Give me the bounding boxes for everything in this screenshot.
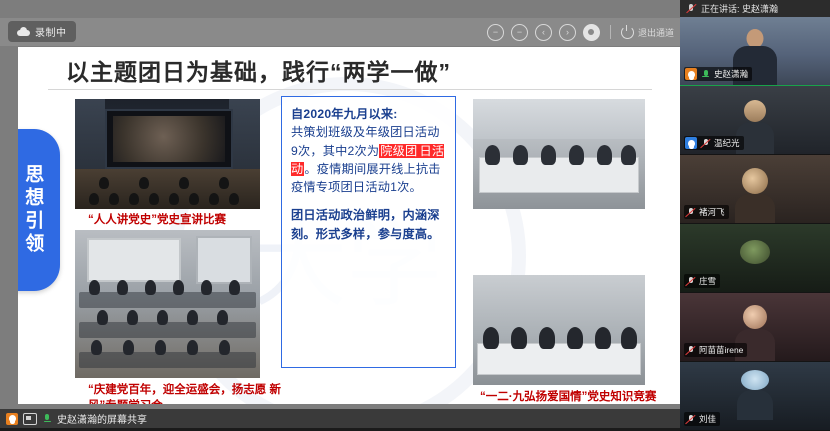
screen-share-label: 史赵潇瀚的屏幕共享 (57, 411, 147, 426)
mic-muted-icon (685, 414, 696, 425)
section-tab-label: 思想引领 (21, 164, 43, 256)
recording-indicator: 录制中 (8, 21, 76, 42)
mic-muted-icon (686, 4, 696, 14)
section-tab-ideological-guidance: 思想引领 (18, 129, 60, 291)
participant-name: 史赵潇瀚 (714, 68, 748, 80)
card-heading: 自2020年九月以来: (291, 105, 446, 123)
avatar-icon (685, 68, 697, 80)
participant-name-chip: 褚河飞 (684, 205, 729, 219)
photo-decor (473, 99, 645, 139)
exit-label: 退出通道 (638, 26, 674, 39)
photo-decor (479, 157, 639, 193)
active-speaker-label: 正在讲话: 史赵潇瀚 (701, 2, 778, 15)
exit-button[interactable]: 退出通道 (621, 26, 674, 39)
presentation-slide: 大学 以主题团日为基础，践行“两学一做” 思想引领 “人人讲党史”党史宣讲比赛 (18, 47, 682, 404)
participant-tile[interactable]: 史赵潇瀚 (680, 17, 830, 86)
recording-label: 录制中 (35, 24, 67, 39)
participant-name: 庄雪 (699, 275, 716, 287)
mic-muted-icon (700, 138, 711, 149)
zoom-out-alt-icon[interactable]: − (511, 24, 528, 41)
caption-photo-lecture-competition: “人人讲党史”党史宣讲比赛 (88, 213, 226, 229)
card-line-5: 1次。 (390, 180, 422, 194)
stop-icon[interactable] (583, 24, 600, 41)
host-avatar-icon (6, 413, 18, 425)
participant-name-chip: 阿苗苗irene (684, 343, 747, 357)
photo-knowledge-contest (473, 275, 645, 385)
participant-tile[interactable]: 温纪光 (680, 86, 830, 155)
participant-name-chip: 刘佳 (684, 412, 720, 426)
card-summary-3: 高。 (415, 227, 440, 241)
screen-share-status-bar: 史赵潇瀚的屏幕共享 (0, 409, 680, 428)
summary-text-card: 自2020年九月以来: 共策划班级及年级团日活动9次，其中2次为院级团日活动。疫… (281, 96, 456, 368)
participant-tile[interactable]: 庄雪 (680, 224, 830, 293)
avatar-icon (685, 137, 697, 149)
card-summary-1: 团日活动政治鲜明，内涵 (291, 208, 427, 222)
microphone-icon (42, 413, 52, 424)
photo-decor (477, 343, 641, 375)
screen-share-icon (23, 413, 37, 425)
participant-name-chip: 温纪光 (684, 136, 744, 150)
mic-on-icon (700, 69, 711, 80)
zoom-meeting-window: 录制中 − − ‹ › 退出通道 大学 以主题团日为基础，践行“两学一做” (0, 0, 830, 428)
zoom-out-icon[interactable]: − (487, 24, 504, 41)
viewer-controls: − − ‹ › 退出通道 (487, 20, 674, 44)
photo-study-session (75, 230, 260, 378)
mic-muted-icon (685, 207, 696, 218)
participant-name: 温纪光 (714, 137, 740, 149)
caption-photo-knowledge-contest: “一二·九弘扬爱国情”党史知识竞赛 (480, 390, 656, 404)
participant-tile[interactable]: 褚河飞 (680, 155, 830, 224)
photo-decor (229, 99, 260, 171)
next-icon[interactable]: › (559, 24, 576, 41)
participant-name-chip: 庄雪 (684, 274, 720, 288)
power-icon (621, 26, 634, 39)
caption-photo-study-session: “庆建党百年，迎全运盛会，扬志愿 新风”专题学习会 (88, 383, 293, 404)
participant-rail: 正在讲话: 史赵潇瀚 史赵潇瀚 温纪光 (680, 0, 830, 428)
photo-decor (87, 238, 181, 282)
participant-name: 褚河飞 (699, 206, 725, 218)
photo-decor (196, 236, 252, 284)
mic-muted-icon (685, 345, 696, 356)
card-body: 共策划班级及年级团日活动9次，其中2次为院级团日活动。疫情期间展开线上抗击疫情专… (291, 123, 446, 196)
card-summary: 团日活动政治鲜明，内涵深刻。形式多样，参与度高。 (291, 206, 446, 243)
toolbar-divider (610, 25, 611, 39)
previous-icon[interactable]: ‹ (535, 24, 552, 41)
card-line-3: 。疫情期间展开线 (304, 162, 403, 176)
cloud-recording-icon (17, 27, 30, 36)
photo-group-meeting (473, 99, 645, 209)
participant-name: 阿苗苗irene (699, 344, 743, 356)
card-line-1: 共策划班级及年级团日活 (291, 125, 427, 139)
title-divider (48, 89, 652, 90)
shared-screen-area: 录制中 − − ‹ › 退出通道 大学 以主题团日为基础，践行“两学一做” (0, 0, 680, 428)
participant-name: 刘佳 (699, 413, 716, 425)
participant-tile[interactable]: 阿苗苗irene (680, 293, 830, 362)
photo-decor (75, 99, 105, 171)
active-speaker-header: 正在讲话: 史赵潇瀚 (680, 0, 830, 17)
photo-lecture-competition (75, 99, 260, 209)
slide-title: 以主题团日为基础，践行“两学一做” (66, 53, 451, 87)
share-toolbar: 录制中 − − ‹ › 退出通道 (0, 18, 680, 46)
participant-tile[interactable]: 刘佳 (680, 362, 830, 431)
caption-line-1: “庆建党百年，迎全运盛会，扬志愿 (88, 384, 266, 396)
mic-muted-icon (685, 276, 696, 287)
photo-decor (105, 109, 233, 169)
card-highlight-1: 院级团 (379, 144, 418, 158)
participant-name-chip: 史赵潇瀚 (684, 67, 752, 81)
